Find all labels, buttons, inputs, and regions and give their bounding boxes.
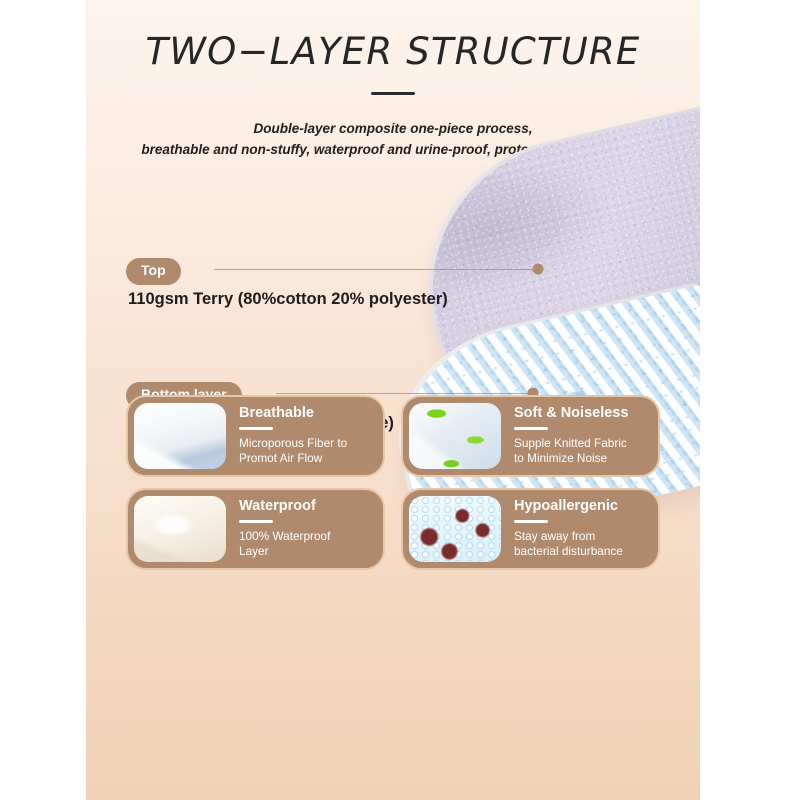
feature-desc-line-2: Promot Air Flow [239, 451, 377, 467]
page-title: TWO−LAYER STRUCTURE [86, 30, 700, 73]
feature-desc-line-2: bacterial disturbance [514, 544, 652, 560]
feature-card-breathable[interactable]: Breathable Microporous Fiber to Promot A… [126, 395, 385, 477]
callout-top-leader-line [214, 269, 536, 270]
feature-card-grid: Breathable Microporous Fiber to Promot A… [126, 395, 660, 570]
callout-top-spec: 110gsm Terry (80%cotton 20% polyester) [128, 290, 448, 309]
feature-title: Breathable [239, 405, 377, 422]
feature-card-soft-noiseless[interactable]: Soft & Noiseless Supple Knitted Fabric t… [401, 395, 660, 477]
feature-card-waterproof[interactable]: Waterproof 100% Waterproof Layer [126, 488, 385, 570]
infographic-page: TWO−LAYER STRUCTURE Double-layer composi… [0, 0, 800, 800]
feature-description: Supple Knitted Fabric to Minimize Noise [514, 436, 652, 467]
feature-card-body: Hypoallergenic Stay away from bacterial … [501, 498, 652, 559]
feature-description: 100% Waterproof Layer [239, 529, 377, 560]
content-panel: TWO−LAYER STRUCTURE Double-layer composi… [86, 0, 700, 800]
feature-card-body: Breathable Microporous Fiber to Promot A… [226, 405, 377, 466]
feature-divider [514, 427, 548, 430]
feature-card-hypoallergenic[interactable]: Hypoallergenic Stay away from bacterial … [401, 488, 660, 570]
callout-bottom-leader-line [276, 393, 531, 394]
waterproof-thumbnail-image [134, 496, 226, 562]
callout-top-marker-dot [533, 264, 544, 275]
soft-noiseless-thumbnail-image [409, 403, 501, 469]
feature-card-body: Waterproof 100% Waterproof Layer [226, 498, 377, 559]
feature-divider [239, 427, 273, 430]
title-divider [371, 92, 415, 95]
feature-desc-line-1: Microporous Fiber to [239, 436, 377, 452]
feature-divider [239, 520, 273, 523]
feature-description: Microporous Fiber to Promot Air Flow [239, 436, 377, 467]
hypoallergenic-thumbnail-image [409, 496, 501, 562]
feature-desc-line-2: Layer [239, 544, 377, 560]
feature-title: Hypoallergenic [514, 498, 652, 515]
feature-desc-line-2: to Minimize Noise [514, 451, 652, 467]
feature-desc-line-1: Stay away from [514, 529, 652, 545]
feature-title: Soft & Noiseless [514, 405, 652, 422]
feature-desc-line-1: Supple Knitted Fabric [514, 436, 652, 452]
feature-description: Stay away from bacterial disturbance [514, 529, 652, 560]
callout-top-pill: Top [126, 258, 181, 285]
feature-title: Waterproof [239, 498, 377, 515]
feature-card-body: Soft & Noiseless Supple Knitted Fabric t… [501, 405, 652, 466]
breathable-thumbnail-image [134, 403, 226, 469]
callout-top: Top 110gsm Terry (80%cotton 20% polyeste… [126, 258, 181, 285]
feature-divider [514, 520, 548, 523]
feature-desc-line-1: 100% Waterproof [239, 529, 377, 545]
